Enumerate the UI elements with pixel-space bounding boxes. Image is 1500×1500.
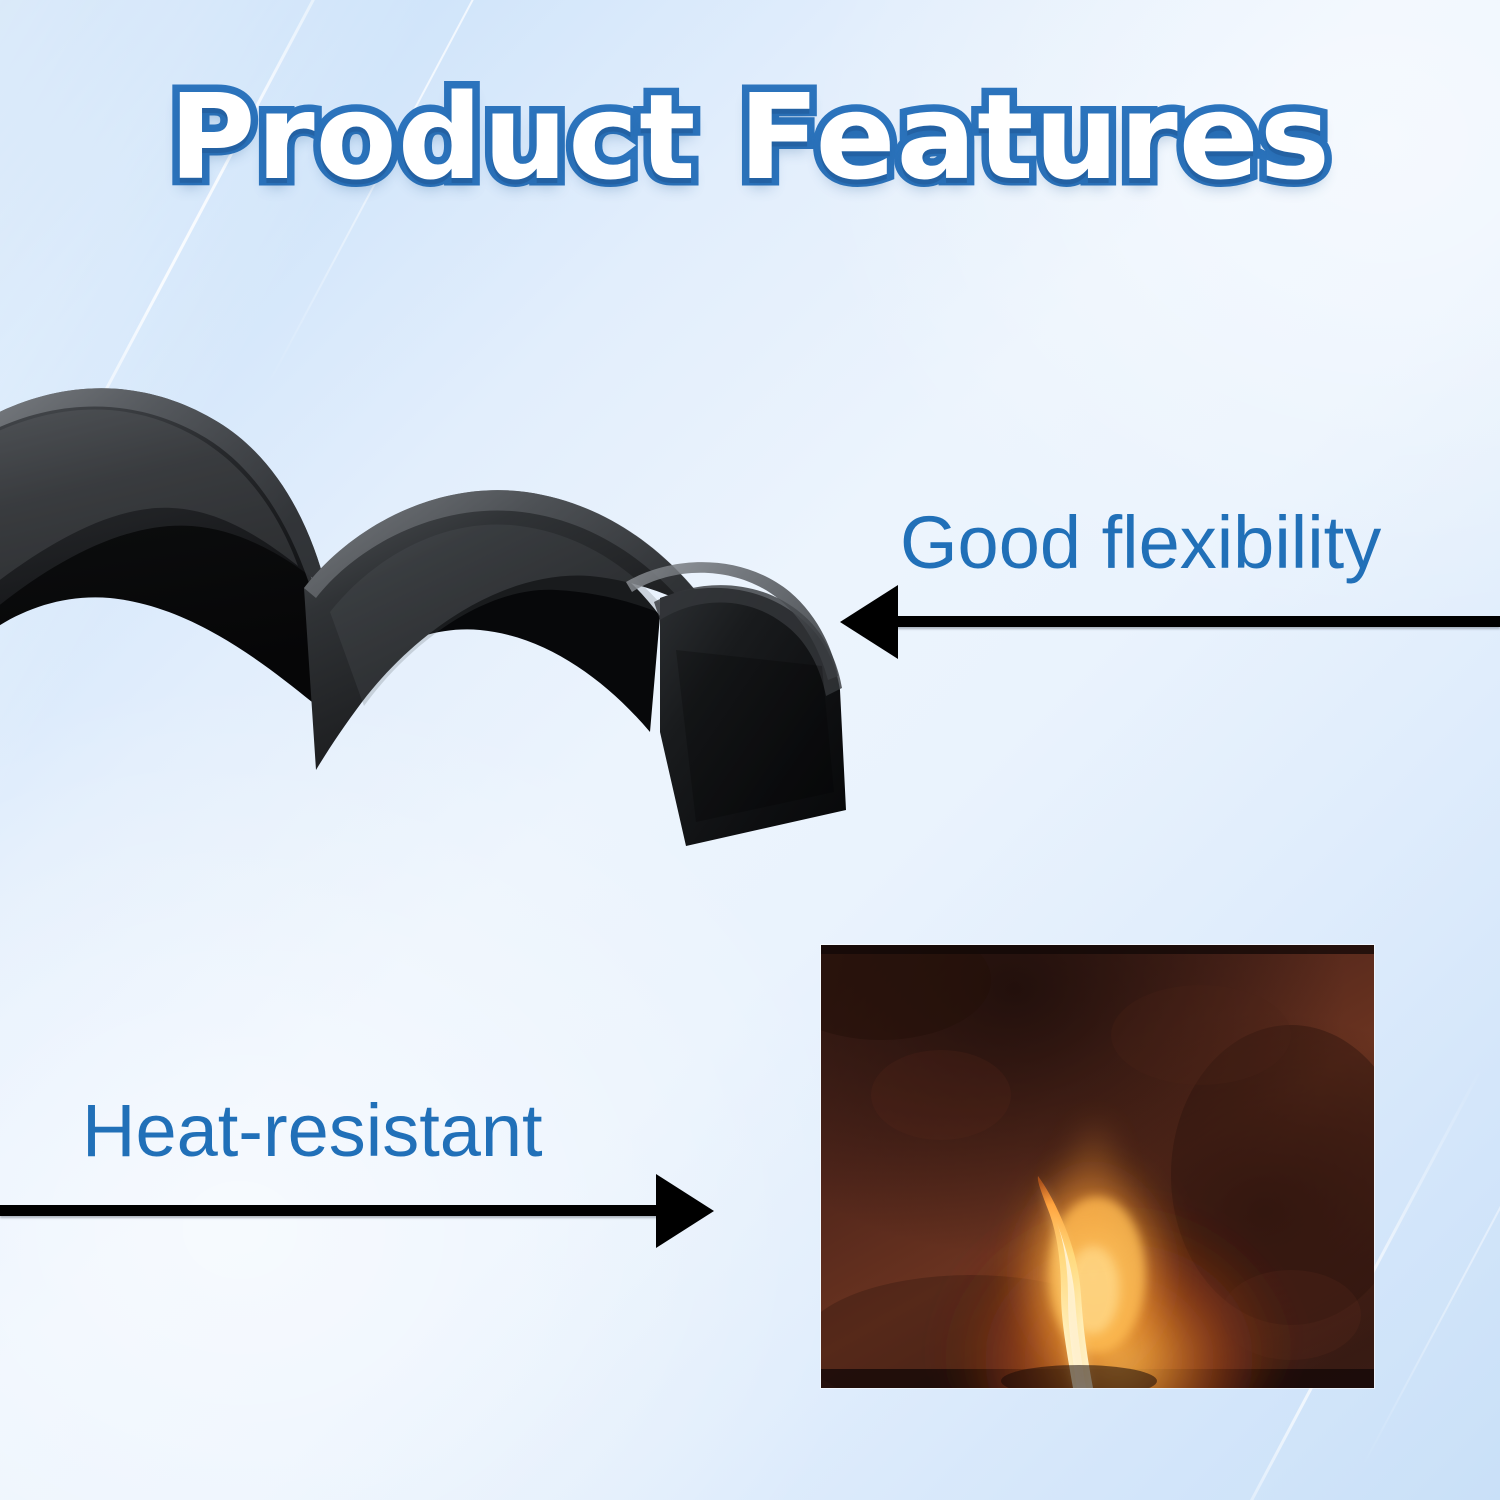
arrow-right-line xyxy=(0,1205,660,1216)
flame-test-photo xyxy=(821,945,1374,1388)
feature-label-heat-resistant: Heat-resistant xyxy=(82,1094,543,1168)
page-title: Product Features xyxy=(0,78,1500,196)
arrow-left-icon xyxy=(840,585,898,659)
infographic-canvas: Product Features xyxy=(0,0,1500,1500)
arrow-left-line xyxy=(896,616,1500,627)
feature-label-flexibility: Good flexibility xyxy=(900,506,1381,580)
rubber-sheet-image xyxy=(0,330,890,850)
arrow-right-icon xyxy=(656,1174,714,1248)
